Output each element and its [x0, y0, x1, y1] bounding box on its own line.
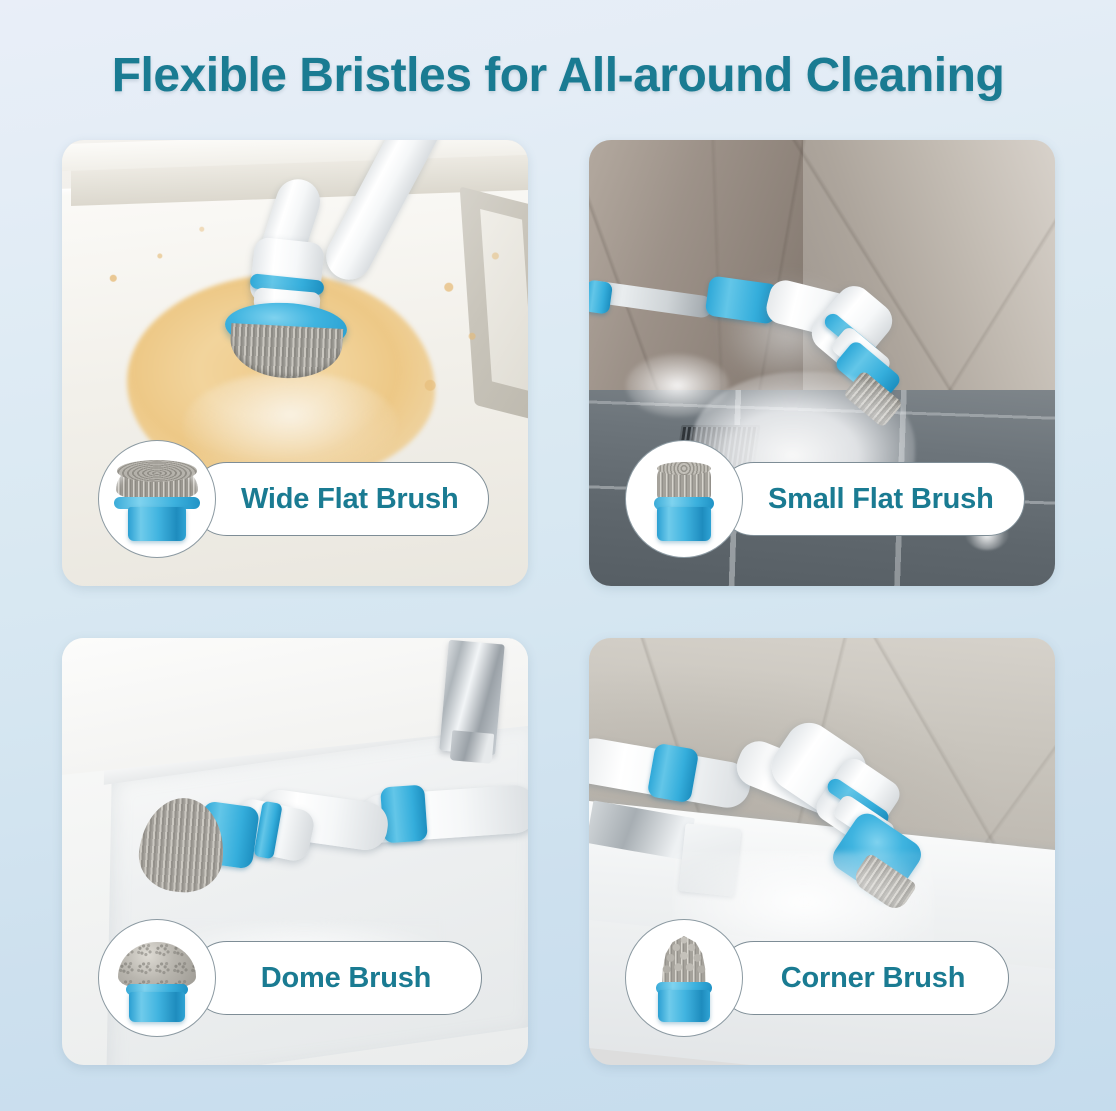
brush-badge	[98, 919, 216, 1037]
feature-label-wide-flat-brush[interactable]: Wide Flat Brush	[98, 440, 489, 558]
brush-name-text: Corner Brush	[781, 962, 966, 995]
brush-badge	[625, 919, 743, 1037]
brush-badge	[98, 440, 216, 558]
feature-grid: Wide Flat Brush	[62, 140, 1055, 1065]
brush-name-text: Dome Brush	[261, 962, 431, 995]
feature-panel-wide-flat-brush[interactable]: Wide Flat Brush	[62, 140, 528, 586]
brush-badge	[625, 440, 743, 558]
corner-brush-icon	[638, 932, 730, 1024]
brush-name-pill: Wide Flat Brush	[190, 462, 489, 536]
feature-panel-corner-brush[interactable]: Corner Brush	[589, 638, 1055, 1065]
dome-brush-icon	[111, 932, 203, 1024]
page-title: Flexible Bristles for All-around Cleanin…	[0, 48, 1116, 103]
brush-name-text: Wide Flat Brush	[241, 483, 458, 516]
wide-flat-brush-icon	[111, 453, 203, 545]
feature-panel-dome-brush[interactable]: TOTO	[62, 638, 528, 1065]
small-flat-brush-icon	[638, 453, 730, 545]
feature-label-small-flat-brush[interactable]: Small Flat Brush	[625, 440, 1025, 558]
feature-label-corner-brush[interactable]: Corner Brush	[625, 919, 1009, 1037]
brush-name-pill: Small Flat Brush	[717, 462, 1025, 536]
feature-panel-small-flat-brush[interactable]: Small Flat Brush	[589, 140, 1055, 586]
brush-name-pill: Dome Brush	[190, 941, 482, 1015]
infographic-page: Flexible Bristles for All-around Cleanin…	[0, 0, 1116, 1111]
brush-name-pill: Corner Brush	[717, 941, 1009, 1015]
brush-name-text: Small Flat Brush	[768, 483, 994, 516]
feature-label-dome-brush[interactable]: Dome Brush	[98, 919, 482, 1037]
